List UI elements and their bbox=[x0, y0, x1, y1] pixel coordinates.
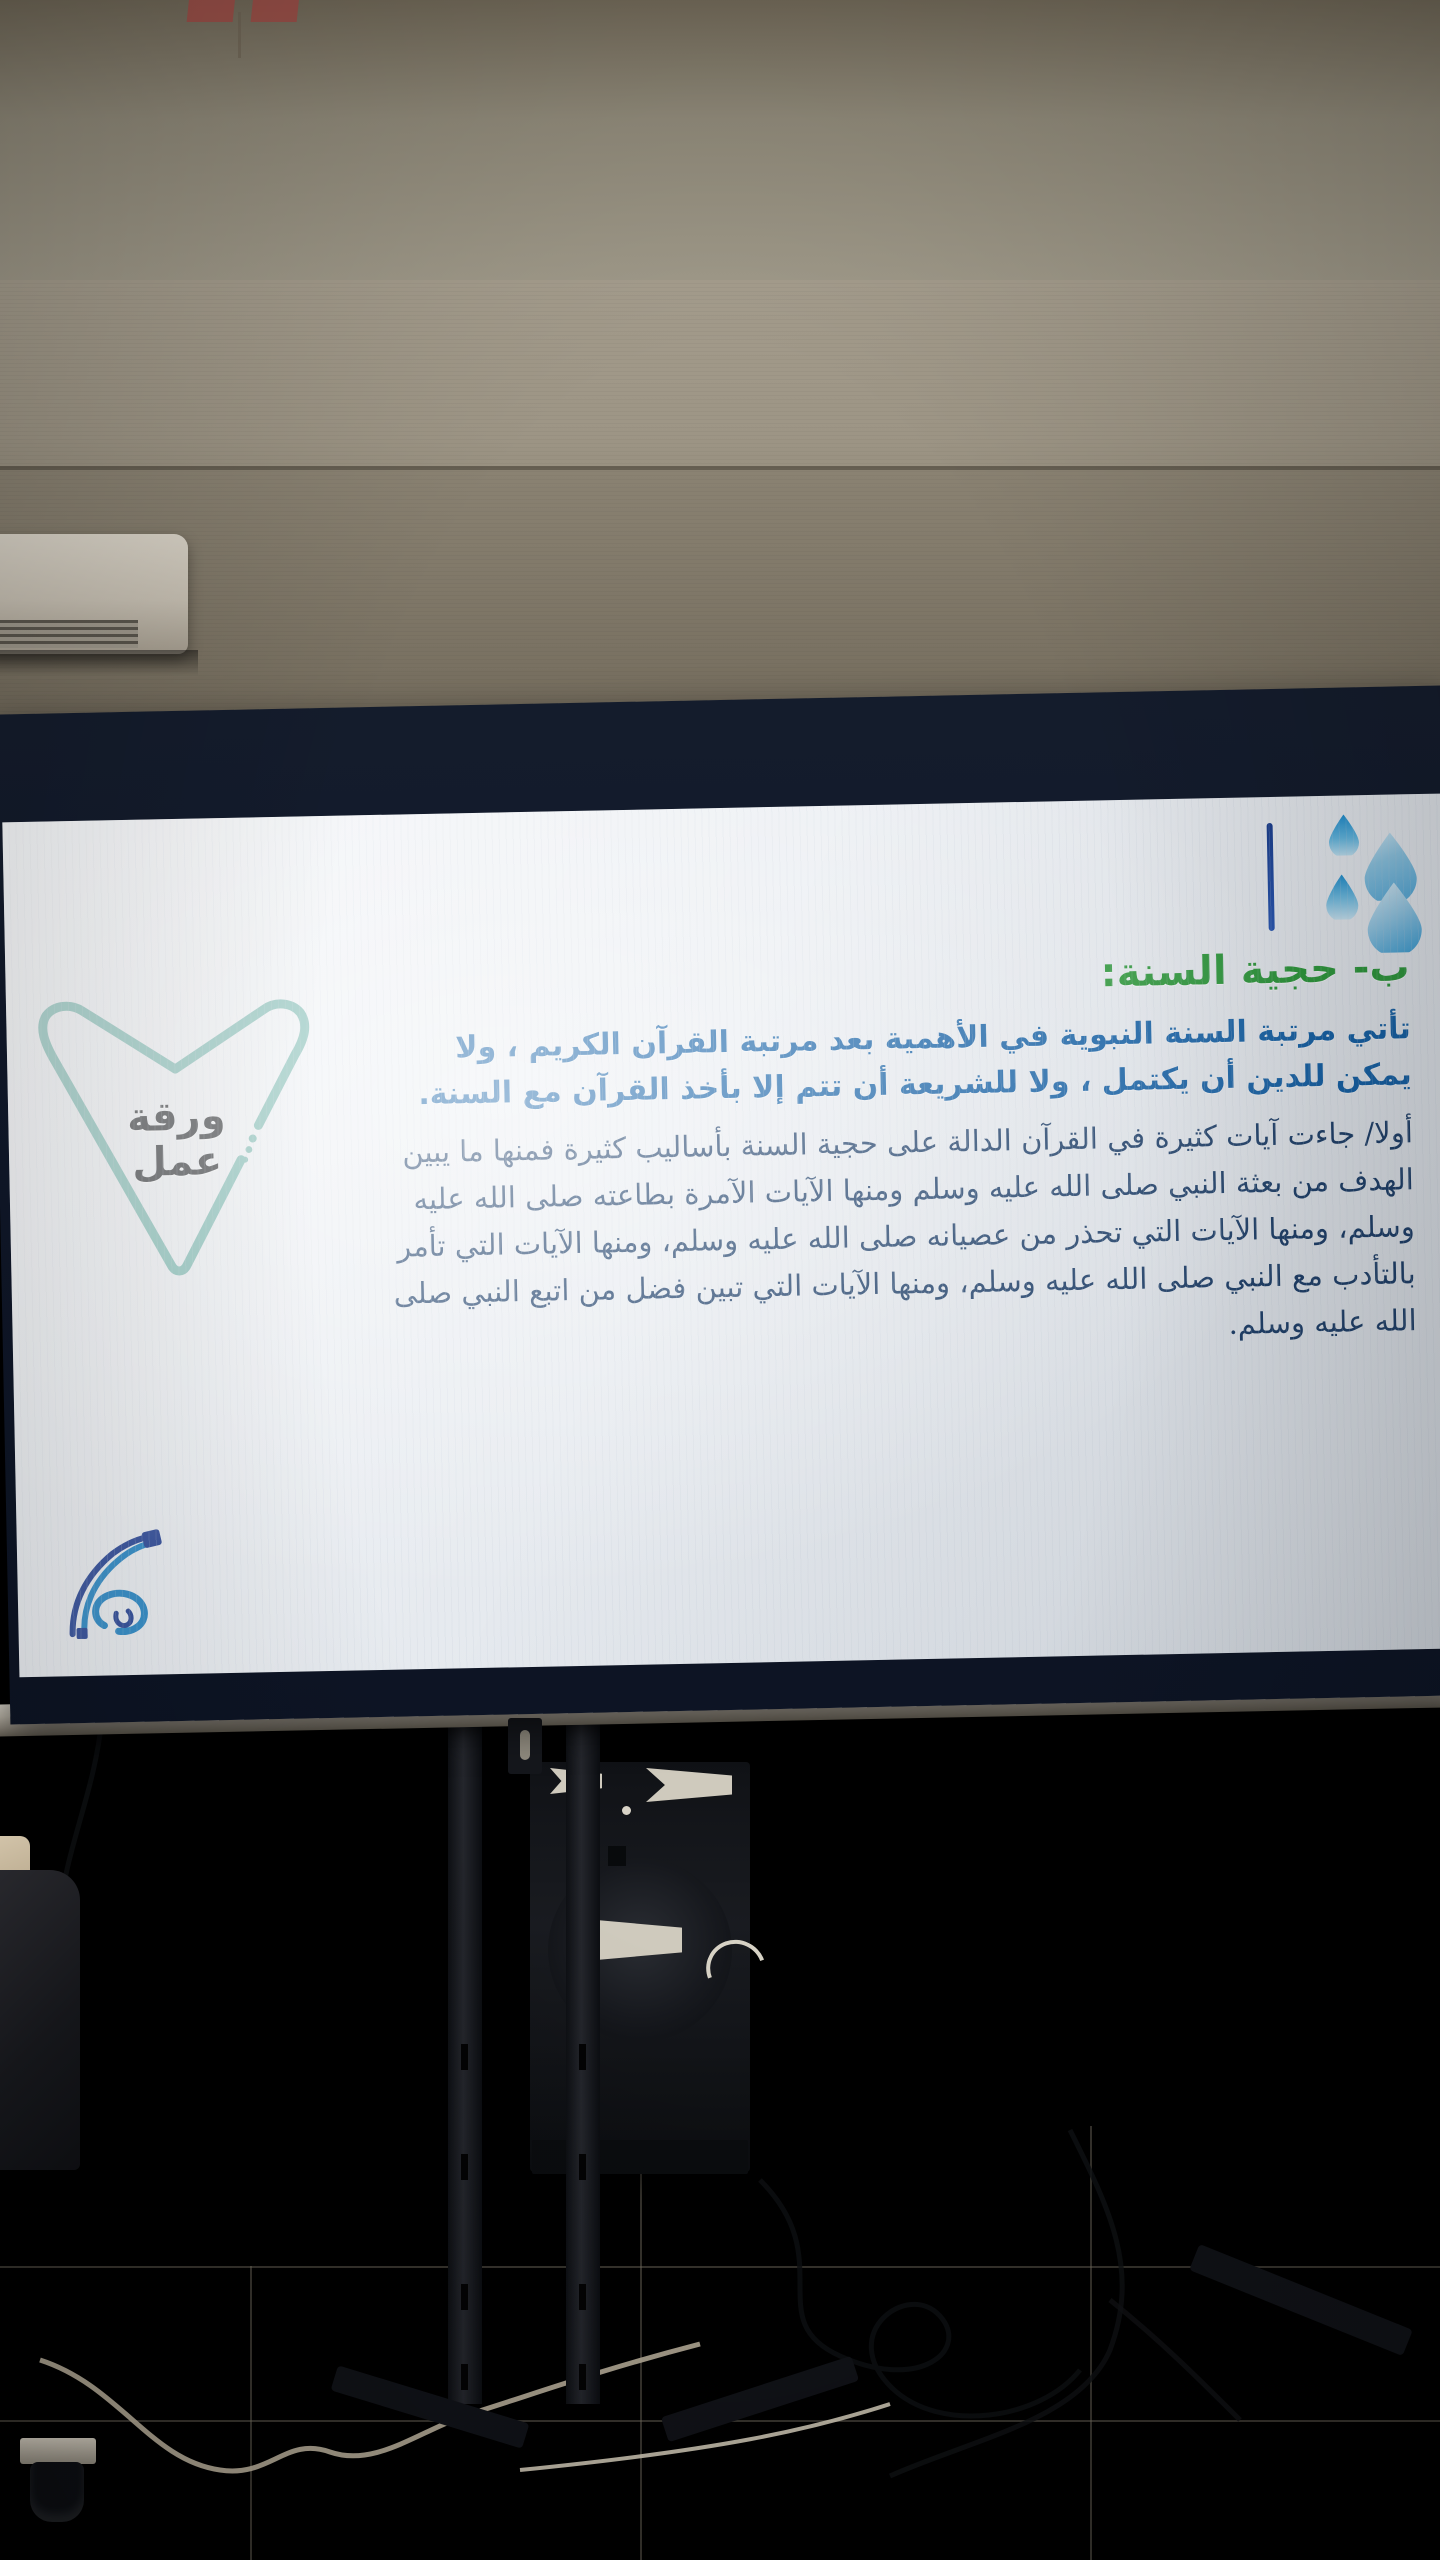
stand-leg bbox=[566, 1724, 600, 2404]
floor-cable-light bbox=[0, 2340, 760, 2540]
vertical-blue-bar bbox=[1267, 823, 1275, 931]
mount-bracket bbox=[508, 1718, 542, 1774]
badge-line-2: عمل bbox=[27, 1137, 328, 1188]
worksheet-badge-label: ورقة عمل bbox=[26, 1092, 328, 1188]
badge-line-1: ورقة bbox=[26, 1092, 327, 1143]
water-drop-icon bbox=[1324, 873, 1361, 920]
stand-leg bbox=[448, 1724, 482, 2404]
ceiling-seam bbox=[238, 12, 241, 58]
leg-slot bbox=[461, 2154, 468, 2180]
slide-body-text: أولا/ جاءت آيات كثيرة في القرآن الدالة ع… bbox=[383, 1109, 1418, 1364]
speaker-tweeter bbox=[646, 1768, 732, 1802]
television: ورقة عمل ب- حجية السنة: تأتي مرتبة السنة… bbox=[0, 685, 1440, 1724]
leg-slot bbox=[461, 2364, 468, 2390]
speaker-led bbox=[622, 1806, 631, 1815]
ceiling bbox=[0, 0, 1440, 300]
slide-heading: ب- حجية السنة: bbox=[379, 944, 1410, 1011]
dark-doorway bbox=[1186, 1718, 1440, 2138]
caster-mount bbox=[20, 2438, 96, 2464]
ac-vent-grille bbox=[0, 620, 138, 648]
worksheet-badge: ورقة عمل bbox=[24, 980, 330, 1306]
leg-slot bbox=[579, 2154, 586, 2180]
speaker-port bbox=[608, 1846, 626, 1866]
water-droplets-decoration bbox=[1260, 806, 1423, 949]
arabic-calligraphy-logo-icon bbox=[57, 1528, 179, 1640]
leg-slot bbox=[579, 2044, 586, 2070]
leg-slot bbox=[579, 2364, 586, 2390]
leg-slot bbox=[579, 2284, 586, 2310]
presentation-slide: ورقة عمل ب- حجية السنة: تأتي مرتبة السنة… bbox=[2, 794, 1440, 1678]
ceiling-mark bbox=[251, 0, 300, 22]
photo-scene: ورقة عمل ب- حجية السنة: تأتي مرتبة السنة… bbox=[0, 0, 1440, 2560]
dark-cabinet-left bbox=[0, 1870, 80, 2170]
leg-slot bbox=[461, 2044, 468, 2070]
ac-shadow bbox=[0, 650, 198, 676]
ceiling-mark bbox=[187, 0, 236, 22]
wall-join-line bbox=[0, 466, 1440, 470]
slide-subtitle: تأتي مرتبة السنة النبوية في الأهمية بعد … bbox=[380, 1006, 1412, 1118]
floor-speaker bbox=[530, 1762, 750, 2172]
water-drop-icon bbox=[1326, 813, 1361, 856]
leg-slot bbox=[461, 2284, 468, 2310]
caster-wheel bbox=[30, 2462, 84, 2522]
slide-text-column: ب- حجية السنة: تأتي مرتبة السنة النبوية … bbox=[379, 944, 1417, 1365]
water-drop-icon bbox=[1364, 880, 1425, 953]
